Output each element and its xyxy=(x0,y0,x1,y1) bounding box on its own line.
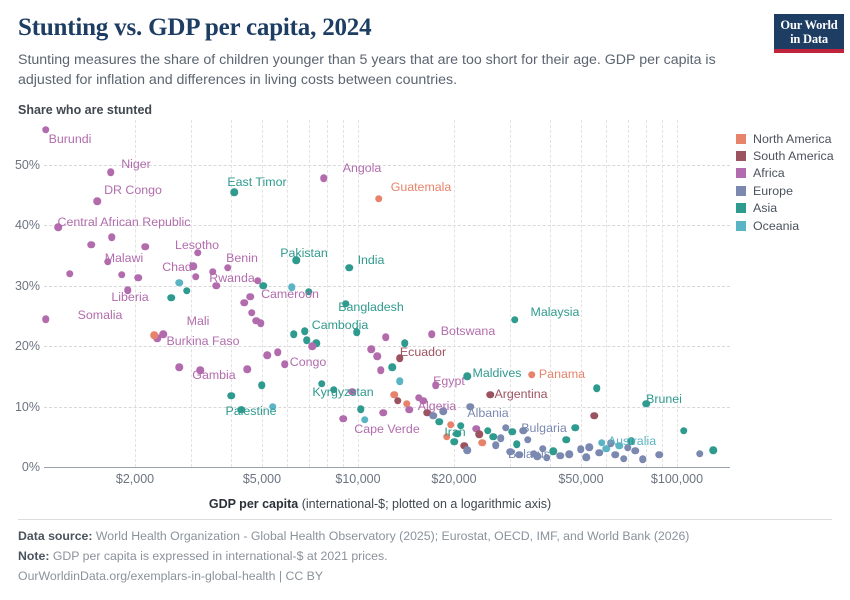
scatter-point[interactable] xyxy=(436,418,444,426)
x-tick-label: $2,000 xyxy=(116,472,154,486)
scatter-point-unlabeled[interactable] xyxy=(439,408,447,416)
scatter-point[interactable] xyxy=(528,371,536,379)
x-tick-label: $5,000 xyxy=(243,472,281,486)
scatter-point-unlabeled[interactable] xyxy=(190,263,198,271)
scatter-point-unlabeled[interactable] xyxy=(394,397,402,405)
scatter-point-unlabeled[interactable] xyxy=(450,438,458,446)
scatter-point[interactable] xyxy=(642,400,650,408)
scatter-point[interactable] xyxy=(108,234,116,242)
scatter-point-unlabeled[interactable] xyxy=(403,400,411,408)
footer-url[interactable]: OurWorldinData.org/exemplars-in-global-h… xyxy=(18,567,832,587)
scatter-point-unlabeled[interactable] xyxy=(656,451,664,459)
scatter-point-label: Cape Verde xyxy=(354,423,419,435)
legend-label: North America xyxy=(753,132,832,146)
scatter-point-unlabeled[interactable] xyxy=(175,279,183,287)
scatter-point[interactable] xyxy=(224,264,232,272)
scatter-point-unlabeled[interactable] xyxy=(628,437,636,445)
scatter-point-unlabeled[interactable] xyxy=(269,403,277,411)
x-tick-label: $20,000 xyxy=(431,472,476,486)
legend-item-south-america[interactable]: South America xyxy=(736,147,848,164)
scatter-point[interactable] xyxy=(159,330,167,338)
scatter-point-unlabeled[interactable] xyxy=(196,367,204,375)
scatter-point[interactable] xyxy=(432,382,440,390)
scatter-point-unlabeled[interactable] xyxy=(66,270,74,278)
scatter-point-unlabeled[interactable] xyxy=(473,425,481,433)
scatter-point[interactable] xyxy=(419,397,427,405)
scatter-point-label: Somalia xyxy=(78,309,123,321)
scatter-point-label: Lesotho xyxy=(175,239,219,251)
scatter-point-label: Belarus xyxy=(508,448,550,460)
chart-subtitle: Stunting measures the share of children … xyxy=(18,50,732,90)
scatter-point[interactable] xyxy=(231,188,239,196)
scatter-point-unlabeled[interactable] xyxy=(624,444,632,452)
scatter-point[interactable] xyxy=(428,330,436,338)
gridline-vertical xyxy=(454,120,455,467)
scatter-point-unlabeled[interactable] xyxy=(401,339,409,347)
scatter-point[interactable] xyxy=(320,175,328,183)
scatter-point-label: DR Congo xyxy=(104,184,162,196)
scatter-point-unlabeled[interactable] xyxy=(572,424,580,432)
legend-swatch-icon xyxy=(736,186,746,196)
owid-logo-line2: in Data xyxy=(779,32,839,46)
owid-logo-line1: Our World xyxy=(779,18,839,32)
scatter-point-unlabeled[interactable] xyxy=(478,439,486,447)
footer-note-text: GDP per capita is expressed in internati… xyxy=(49,549,387,563)
gridline-vertical xyxy=(581,120,582,467)
scatter-point-label: East Timor xyxy=(227,176,286,188)
gridline-horizontal xyxy=(44,286,730,287)
scatter-point-label: Rwanda xyxy=(209,272,254,284)
scatter-point[interactable] xyxy=(342,300,350,308)
x-tick-label: $10,000 xyxy=(335,472,380,486)
owid-chart: Stunting vs. GDP per capita, 2024 Stunti… xyxy=(0,0,850,600)
scatter-point[interactable] xyxy=(511,316,519,324)
owid-logo[interactable]: Our World in Data xyxy=(774,14,844,53)
scatter-point[interactable] xyxy=(175,364,183,372)
scatter-point-unlabeled[interactable] xyxy=(429,412,437,420)
scatter-point-unlabeled[interactable] xyxy=(274,348,282,356)
scatter-point[interactable] xyxy=(124,286,132,294)
scatter-point-label: Angola xyxy=(343,162,382,174)
scatter-point-label: Liberia xyxy=(111,291,148,303)
gridline-vertical xyxy=(191,120,192,467)
scatter-point-unlabeled[interactable] xyxy=(509,428,517,436)
legend-item-asia[interactable]: Asia xyxy=(736,200,848,217)
scatter-point-unlabeled[interactable] xyxy=(447,421,455,429)
scatter-point-label: Cameroon xyxy=(261,288,319,300)
scatter-point-label: Congo xyxy=(290,356,327,368)
scatter-point-unlabeled[interactable] xyxy=(502,424,510,432)
gridline-vertical xyxy=(135,120,136,467)
y-axis-title: Share who are stunted xyxy=(18,103,152,117)
scatter-point-unlabeled[interactable] xyxy=(550,448,558,456)
scatter-point-unlabeled[interactable] xyxy=(543,454,551,462)
scatter-point-unlabeled[interactable] xyxy=(607,440,615,448)
scatter-point-label: Benin xyxy=(226,252,258,264)
legend-swatch-icon xyxy=(736,203,746,213)
scatter-point[interactable] xyxy=(292,257,300,265)
footer-source-line: Data source: World Health Organization -… xyxy=(18,527,832,547)
legend-label: Europe xyxy=(753,184,793,198)
scatter-point-unlabeled[interactable] xyxy=(118,271,126,279)
legend-label: Oceania xyxy=(753,219,799,233)
scatter-point-unlabeled[interactable] xyxy=(492,442,500,450)
scatter-point-unlabeled[interactable] xyxy=(454,430,462,438)
footer-source-label: Data source: xyxy=(18,529,93,543)
gridline-vertical xyxy=(646,120,647,467)
gridline-vertical xyxy=(662,120,663,467)
gridline-horizontal xyxy=(44,165,730,166)
gridline-vertical xyxy=(510,120,511,467)
scatter-point-unlabeled[interactable] xyxy=(696,450,704,458)
footer-note-line: Note: GDP per capita is expressed in int… xyxy=(18,547,832,567)
scatter-point-unlabeled[interactable] xyxy=(710,446,718,454)
scatter-point-unlabeled[interactable] xyxy=(254,277,262,285)
x-axis-title-rest: (international-$; plotted on a logarithm… xyxy=(298,497,551,511)
scatter-point-label: India xyxy=(358,254,385,266)
gridline-vertical xyxy=(606,120,607,467)
scatter-point-unlabeled[interactable] xyxy=(639,455,647,463)
legend-item-north-america[interactable]: North America xyxy=(736,130,848,147)
scatter-point-unlabeled[interactable] xyxy=(443,433,451,441)
scatter-point-label: Burundi xyxy=(49,133,92,145)
scatter-point[interactable] xyxy=(42,126,50,134)
scatter-point-unlabeled[interactable] xyxy=(258,382,266,390)
scatter-point[interactable] xyxy=(318,380,326,388)
scatter-point-unlabeled[interactable] xyxy=(388,364,396,372)
y-tick-label: 20% xyxy=(0,339,40,353)
scatter-point[interactable] xyxy=(247,293,255,301)
chart-header: Stunting vs. GDP per capita, 2024 Stunti… xyxy=(18,14,748,90)
scatter-point-unlabeled[interactable] xyxy=(463,446,471,454)
scatter-point[interactable] xyxy=(104,258,112,266)
scatter-point-unlabeled[interactable] xyxy=(141,243,149,251)
scatter-point-unlabeled[interactable] xyxy=(330,386,338,394)
gridline-vertical xyxy=(358,120,359,467)
scatter-point-unlabeled[interactable] xyxy=(227,392,235,400)
footer-divider xyxy=(18,519,832,520)
scatter-point-unlabeled[interactable] xyxy=(534,452,542,460)
legend-item-africa[interactable]: Africa xyxy=(736,165,848,182)
scatter-point-label: Botswana xyxy=(441,325,495,337)
x-tick-label: $50,000 xyxy=(558,472,603,486)
scatter-point-unlabeled[interactable] xyxy=(539,445,547,453)
scatter-point-unlabeled[interactable] xyxy=(585,443,593,451)
scatter-point-unlabeled[interactable] xyxy=(602,445,610,453)
scatter-point[interactable] xyxy=(135,274,143,282)
scatter-point[interactable] xyxy=(506,448,514,456)
scatter-point-unlabeled[interactable] xyxy=(305,288,313,296)
scatter-point-label: Argentina xyxy=(494,388,547,400)
scatter-point[interactable] xyxy=(290,330,298,338)
legend-label: South America xyxy=(753,149,834,163)
scatter-point-unlabeled[interactable] xyxy=(361,416,369,424)
legend-swatch-icon xyxy=(736,134,746,144)
scatter-point-unlabeled[interactable] xyxy=(563,436,571,444)
gridline-vertical xyxy=(262,120,263,467)
gridline-vertical xyxy=(550,120,551,467)
scatter-point-label: Central African Republic xyxy=(58,216,191,228)
gridline-vertical xyxy=(231,120,232,467)
scatter-point[interactable] xyxy=(42,315,50,323)
scatter-point-unlabeled[interactable] xyxy=(377,367,385,375)
scatter-point-label: Albania xyxy=(467,407,508,419)
scatter-point-unlabeled[interactable] xyxy=(213,282,221,290)
scatter-point[interactable] xyxy=(264,352,272,360)
legend-swatch-icon xyxy=(736,168,746,178)
gridline-vertical xyxy=(309,120,310,467)
x-axis-title: GDP per capita (international-$; plotted… xyxy=(0,497,760,511)
scatter-point-unlabeled[interactable] xyxy=(357,405,365,413)
scatter-point-unlabeled[interactable] xyxy=(374,353,382,361)
scatter-point[interactable] xyxy=(346,264,354,272)
x-axis-line xyxy=(44,467,730,468)
legend-item-europe[interactable]: Europe xyxy=(736,182,848,199)
scatter-point-label: Burkina Faso xyxy=(166,335,239,347)
scatter-point-unlabeled[interactable] xyxy=(183,287,191,295)
scatter-point[interactable] xyxy=(107,168,115,176)
scatter-point-unlabeled[interactable] xyxy=(151,332,159,340)
scatter-point-unlabeled[interactable] xyxy=(288,283,296,291)
scatter-point-unlabeled[interactable] xyxy=(309,342,317,350)
scatter-point-unlabeled[interactable] xyxy=(593,385,601,393)
scatter-point-label: Panama xyxy=(539,368,585,380)
scatter-point-unlabeled[interactable] xyxy=(515,451,523,459)
scatter-point-unlabeled[interactable] xyxy=(380,409,388,417)
scatter-point-unlabeled[interactable] xyxy=(253,317,261,325)
scatter-point-label: Egypt xyxy=(433,375,465,387)
scatter-point-label: Guatemala xyxy=(391,181,452,193)
legend-label: Africa xyxy=(753,166,785,180)
scatter-point-unlabeled[interactable] xyxy=(620,455,628,463)
scatter-point-unlabeled[interactable] xyxy=(530,450,538,458)
gridline-vertical xyxy=(287,120,288,467)
gridline-vertical xyxy=(628,120,629,467)
scatter-point[interactable] xyxy=(237,406,245,414)
scatter-point-unlabeled[interactable] xyxy=(611,451,619,459)
scatter-point-label: Pakistan xyxy=(280,247,328,259)
y-tick-label: 30% xyxy=(0,279,40,293)
y-tick-label: 50% xyxy=(0,158,40,172)
gridline-horizontal xyxy=(44,407,730,408)
scatter-point-label: Gambia xyxy=(192,369,235,381)
scatter-point[interactable] xyxy=(375,195,383,203)
scatter-point-unlabeled[interactable] xyxy=(583,454,591,462)
scatter-point-label: Algeria xyxy=(418,400,457,412)
scatter-point-label: Mali xyxy=(187,315,210,327)
scatter-point-unlabeled[interactable] xyxy=(680,427,688,435)
scatter-point-unlabeled[interactable] xyxy=(556,452,564,460)
scatter-point-unlabeled[interactable] xyxy=(303,336,311,344)
footer-source-text: World Health Organization - Global Healt… xyxy=(93,529,690,543)
scatter-point[interactable] xyxy=(467,403,475,411)
x-axis-title-bold: GDP per capita xyxy=(209,497,298,511)
scatter-point-unlabeled[interactable] xyxy=(391,391,399,399)
scatter-point-label: Bangladesh xyxy=(338,301,403,313)
scatter-point[interactable] xyxy=(616,442,624,450)
scatter-point-label: Maldives xyxy=(473,367,522,379)
y-tick-label: 40% xyxy=(0,218,40,232)
scatter-point-unlabeled[interactable] xyxy=(382,333,390,341)
scatter-point[interactable] xyxy=(93,197,101,205)
legend-label: Asia xyxy=(753,201,777,215)
scatter-point[interactable] xyxy=(487,391,495,399)
gridline-vertical xyxy=(677,120,678,467)
scatter-point-unlabeled[interactable] xyxy=(590,412,598,420)
scatter-point-unlabeled[interactable] xyxy=(248,309,256,317)
scatter-point[interactable] xyxy=(55,223,63,231)
scatter-point-label: Ecuador xyxy=(400,346,446,358)
scatter-point-label: Brunei xyxy=(646,393,682,405)
scatter-point-unlabeled[interactable] xyxy=(257,319,265,327)
scatter-point-label: Cambodia xyxy=(312,319,368,331)
scatter-point-unlabeled[interactable] xyxy=(476,431,484,439)
legend-swatch-icon xyxy=(736,221,746,231)
scatter-point-unlabeled[interactable] xyxy=(460,442,468,450)
gridline-horizontal xyxy=(44,346,730,347)
scatter-point-label: Kyrgyzstan xyxy=(312,386,373,398)
scatter-point-unlabeled[interactable] xyxy=(489,433,497,441)
scatter-point[interactable] xyxy=(396,355,404,363)
chart-footer: Data source: World Health Organization -… xyxy=(18,527,832,587)
scatter-point-unlabeled[interactable] xyxy=(415,394,423,402)
scatter-point-label: Niger xyxy=(121,158,151,170)
scatter-point-unlabeled[interactable] xyxy=(301,327,309,335)
scatter-point[interactable] xyxy=(520,427,528,435)
scatter-point-unlabeled[interactable] xyxy=(406,406,414,414)
scatter-point-unlabeled[interactable] xyxy=(241,299,249,307)
scatter-point-label: Iran xyxy=(444,426,465,438)
scatter-point-unlabeled[interactable] xyxy=(168,294,176,302)
scatter-point[interactable] xyxy=(88,241,96,249)
scatter-point-label: Malaysia xyxy=(531,306,580,318)
page-title: Stunting vs. GDP per capita, 2024 xyxy=(18,14,748,42)
y-tick-label: 0% xyxy=(0,460,40,474)
scatter-point-unlabeled[interactable] xyxy=(484,427,492,435)
scatter-point-label: Malawi xyxy=(105,252,144,264)
scatter-point[interactable] xyxy=(463,373,471,381)
scatter-point-unlabeled[interactable] xyxy=(566,451,574,459)
legend-item-oceania[interactable]: Oceania xyxy=(736,217,848,234)
scatter-point[interactable] xyxy=(192,273,200,281)
scatter-point-unlabeled[interactable] xyxy=(349,388,357,396)
scatter-point-unlabeled[interactable] xyxy=(367,345,375,353)
scatter-point-unlabeled[interactable] xyxy=(353,329,361,337)
scatter-point-unlabeled[interactable] xyxy=(424,409,432,417)
scatter-point-unlabeled[interactable] xyxy=(497,434,505,442)
y-tick-label: 10% xyxy=(0,400,40,414)
gridline-vertical xyxy=(327,120,328,467)
scatter-point[interactable] xyxy=(194,249,202,257)
scatter-point-unlabeled[interactable] xyxy=(513,440,521,448)
scatter-point[interactable] xyxy=(260,282,268,290)
scatter-point-label: Chad xyxy=(162,261,192,273)
scatter-point-unlabeled[interactable] xyxy=(524,436,532,444)
scatter-point-unlabeled[interactable] xyxy=(281,361,289,369)
scatter-point[interactable] xyxy=(154,335,162,343)
scatter-point-unlabeled[interactable] xyxy=(457,422,465,430)
legend-swatch-icon xyxy=(736,151,746,161)
scatter-point-unlabeled[interactable] xyxy=(632,447,640,455)
scatter-point-label: Palestine xyxy=(226,405,277,417)
legend: North AmericaSouth AmericaAfricaEuropeAs… xyxy=(736,130,848,234)
scatter-point-label: Australia xyxy=(608,435,656,447)
gridline-horizontal xyxy=(44,225,730,226)
scatter-point-unlabeled[interactable] xyxy=(577,446,585,454)
scatter-point-label: Bulgaria xyxy=(521,422,566,434)
scatter-point-unlabeled[interactable] xyxy=(396,377,404,385)
scatter-point[interactable] xyxy=(340,415,348,423)
scatter-point-unlabeled[interactable] xyxy=(244,365,252,373)
scatter-point-unlabeled[interactable] xyxy=(595,449,603,457)
footer-note-label: Note: xyxy=(18,549,49,563)
scatter-point-unlabeled[interactable] xyxy=(209,268,217,276)
x-tick-label: $100,000 xyxy=(651,472,703,486)
scatter-point-unlabeled[interactable] xyxy=(313,339,321,347)
scatter-point-unlabeled[interactable] xyxy=(598,439,606,447)
gridline-vertical xyxy=(343,120,344,467)
